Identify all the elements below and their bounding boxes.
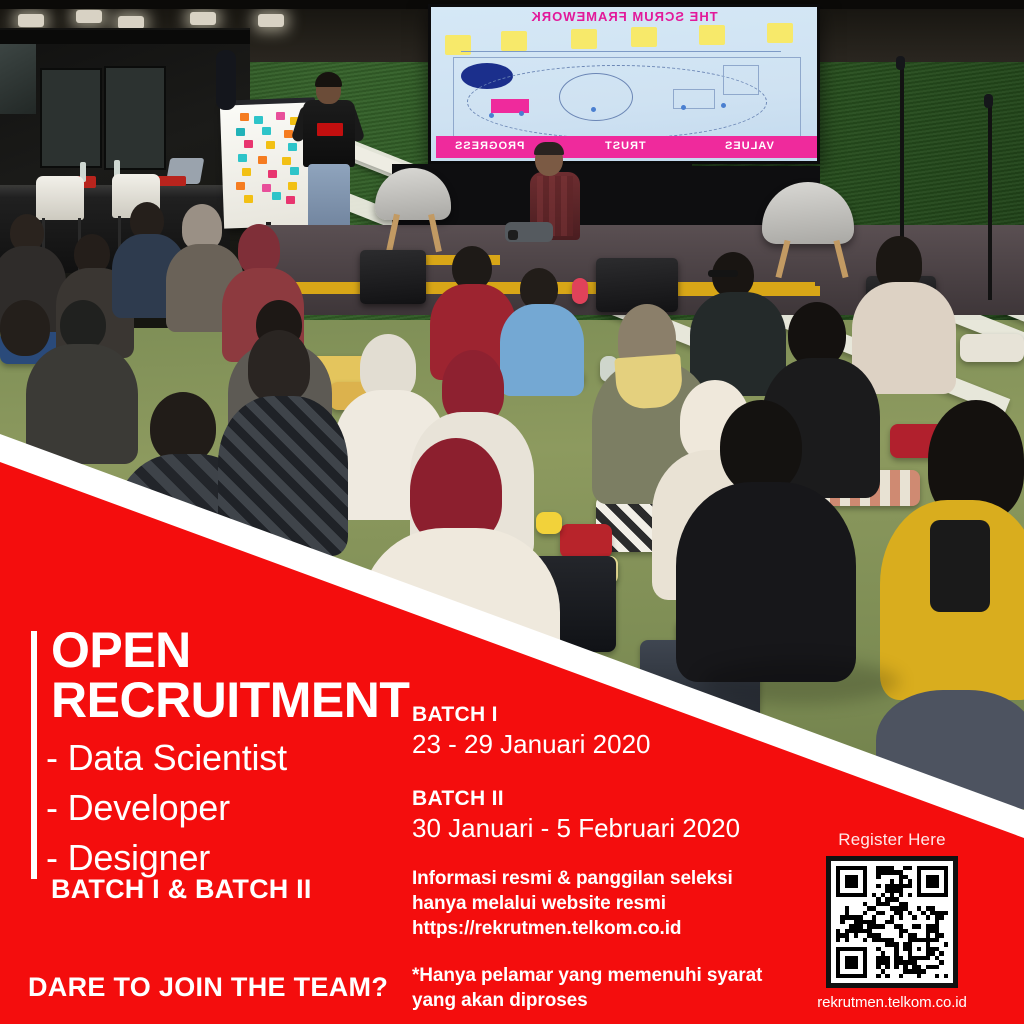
projector-screen-frame: THE SCRUM FRAMEWORK bbox=[428, 4, 820, 164]
spacer bbox=[412, 844, 772, 866]
qr-quiet-zone bbox=[831, 861, 953, 983]
slide-box bbox=[673, 89, 715, 109]
sticky-note bbox=[240, 113, 249, 121]
window-glass bbox=[0, 44, 36, 114]
sticky-note bbox=[266, 141, 275, 149]
sticky-note bbox=[254, 116, 263, 124]
audience-hijab bbox=[238, 224, 280, 274]
batch-summary: BATCH I & BATCH II bbox=[51, 874, 312, 905]
audience-body bbox=[26, 344, 138, 464]
slide-title: THE SCRUM FRAMEWORK bbox=[431, 9, 817, 24]
disclaimer-line-1: *Hanya pelamar yang memenuhi syarat bbox=[412, 963, 772, 988]
microphone bbox=[508, 230, 518, 240]
slide-note bbox=[631, 27, 657, 47]
recruitment-poster: THE SCRUM FRAMEWORK bbox=[0, 0, 1024, 1024]
qr-url-caption: rekrutmen.telkom.co.id bbox=[797, 994, 987, 1011]
backpack bbox=[930, 520, 990, 612]
sticky-note bbox=[236, 182, 245, 190]
slide-band-trust: TRUST bbox=[604, 140, 646, 152]
sticky-pad bbox=[536, 512, 562, 534]
batch-2-dates: 30 Januari - 5 Februari 2020 bbox=[412, 812, 772, 844]
info-line-2: hanya melalui website resmi bbox=[412, 891, 772, 916]
qr-module-grid bbox=[836, 866, 948, 978]
audience-head bbox=[720, 400, 802, 494]
presenter-shirt-logo bbox=[317, 123, 343, 136]
window-pane bbox=[40, 68, 102, 168]
qr-register-block: Register Here rekrutmen.telkom.co.id bbox=[797, 830, 987, 1011]
sticky-note bbox=[238, 154, 247, 162]
batch-1-label: BATCH I bbox=[412, 702, 772, 728]
slide-note bbox=[699, 25, 725, 45]
headline-line-1: OPEN bbox=[51, 625, 471, 675]
eyeglasses bbox=[708, 270, 738, 277]
floor-cushion bbox=[960, 334, 1024, 362]
sticky-note bbox=[290, 167, 299, 175]
sticky-note bbox=[236, 128, 245, 136]
dark-speaker-column bbox=[216, 50, 236, 110]
headline-accent-bar bbox=[31, 631, 37, 879]
sticky-note bbox=[258, 156, 267, 164]
sticky-note bbox=[262, 127, 271, 135]
floor-cushion bbox=[560, 524, 612, 558]
slide-figure bbox=[721, 103, 726, 108]
sticky-note bbox=[244, 195, 253, 203]
qr-label: Register Here bbox=[797, 830, 987, 850]
ceiling-light bbox=[18, 14, 44, 27]
mic-stand bbox=[988, 100, 992, 300]
official-website-url[interactable]: https://rekrutmen.telkom.co.id bbox=[412, 916, 772, 941]
role-list: - Data Scientist - Developer - Designer bbox=[46, 733, 446, 883]
disclaimer-line-2: yang akan diproses bbox=[412, 988, 772, 1013]
projector-screen: THE SCRUM FRAMEWORK bbox=[431, 7, 817, 161]
audience-body bbox=[500, 304, 584, 396]
info-line-1: Informasi resmi & panggilan seleksi bbox=[412, 866, 772, 891]
call-to-action: DARE TO JOIN THE TEAM? bbox=[28, 972, 388, 1003]
ceiling-light bbox=[258, 14, 284, 27]
slide-figure bbox=[681, 105, 686, 110]
audience-head bbox=[248, 330, 310, 402]
role-item-developer: - Developer bbox=[46, 783, 446, 833]
shadow bbox=[700, 660, 900, 704]
spacer bbox=[412, 941, 772, 963]
slide-note bbox=[767, 23, 793, 43]
pa-speaker bbox=[360, 250, 426, 304]
bar-stool bbox=[36, 176, 84, 220]
slide-figure bbox=[519, 111, 524, 116]
batch-1-dates: 23 - 29 Januari 2020 bbox=[412, 728, 772, 760]
mic-head-icon bbox=[984, 94, 993, 108]
mic-head-icon bbox=[896, 56, 905, 70]
sticky-note bbox=[262, 184, 271, 192]
page-title: OPEN RECRUITMENT bbox=[51, 625, 471, 725]
sticky-note bbox=[276, 112, 285, 120]
window-pane bbox=[104, 66, 166, 170]
spacer bbox=[412, 760, 772, 786]
slide-note bbox=[501, 31, 527, 51]
slide-band-progress: PROGRESS bbox=[454, 140, 524, 152]
slide-rule bbox=[461, 51, 781, 52]
sticky-note bbox=[286, 196, 295, 204]
qr-code[interactable] bbox=[826, 856, 958, 988]
audience-body bbox=[676, 482, 856, 682]
sticky-note bbox=[282, 157, 291, 165]
audience-head bbox=[60, 300, 106, 350]
slide-value-band: PROGRESS TRUST VALUES bbox=[436, 136, 817, 158]
audience-head bbox=[0, 300, 50, 356]
slide-figure bbox=[489, 113, 494, 118]
slide-figure bbox=[591, 107, 596, 112]
slide-note bbox=[571, 29, 597, 49]
sticky-note bbox=[244, 140, 253, 148]
role-item-data-scientist: - Data Scientist bbox=[46, 733, 446, 783]
slide-box bbox=[723, 65, 759, 95]
sticky-note bbox=[272, 192, 281, 200]
ceiling-light bbox=[190, 12, 216, 25]
sticky-note bbox=[288, 143, 297, 151]
sticky-note bbox=[268, 170, 277, 178]
soffit bbox=[0, 30, 250, 44]
ceiling-light bbox=[76, 10, 102, 23]
sticky-note bbox=[288, 182, 297, 190]
batch-2-label: BATCH II bbox=[412, 786, 772, 812]
details-column: BATCH I 23 - 29 Januari 2020 BATCH II 30… bbox=[412, 702, 772, 1013]
water-bottle bbox=[572, 278, 588, 304]
sticky-note bbox=[242, 168, 251, 176]
headline-line-2: RECRUITMENT bbox=[51, 675, 471, 725]
slide-note bbox=[445, 35, 471, 55]
slide-band-values: VALUES bbox=[724, 140, 774, 152]
pa-speaker bbox=[596, 258, 678, 312]
moderator-hair bbox=[534, 142, 564, 155]
